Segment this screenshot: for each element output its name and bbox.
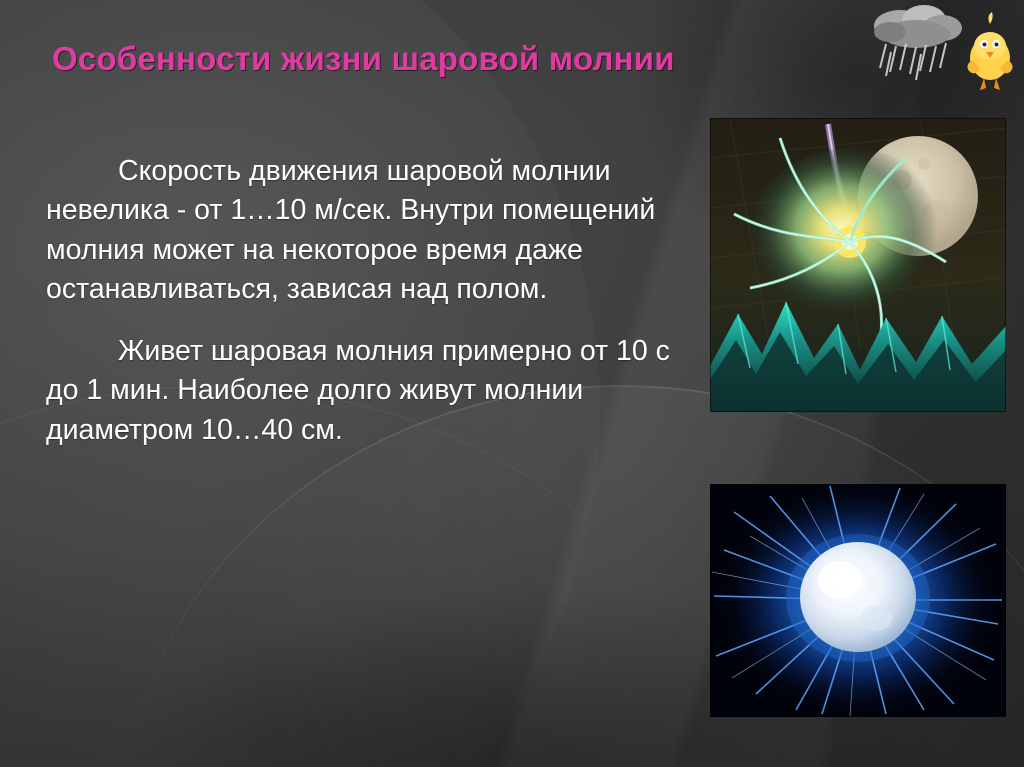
slide-title: Особенности жизни шаровой молнии: [52, 40, 712, 78]
clipart-group: [860, 2, 1024, 106]
ball-lightning-painting: [710, 118, 1006, 412]
paragraph-1: Скорость движения шаровой молнии невелик…: [46, 152, 686, 310]
paragraph-2: Живет шаровая молния примерно от 10 с до…: [46, 332, 686, 450]
slide: Особенности жизни шаровой молнии Скорост…: [0, 0, 1024, 767]
ball-lightning-painting-art: [710, 118, 1006, 412]
chick-icon: [967, 12, 1012, 90]
slide-body: Скорость движения шаровой молнии невелик…: [46, 152, 686, 462]
ball-lightning-photo-art: [710, 484, 1006, 717]
rain-cloud-icon: [874, 5, 962, 80]
ball-lightning-photo: [710, 484, 1006, 717]
